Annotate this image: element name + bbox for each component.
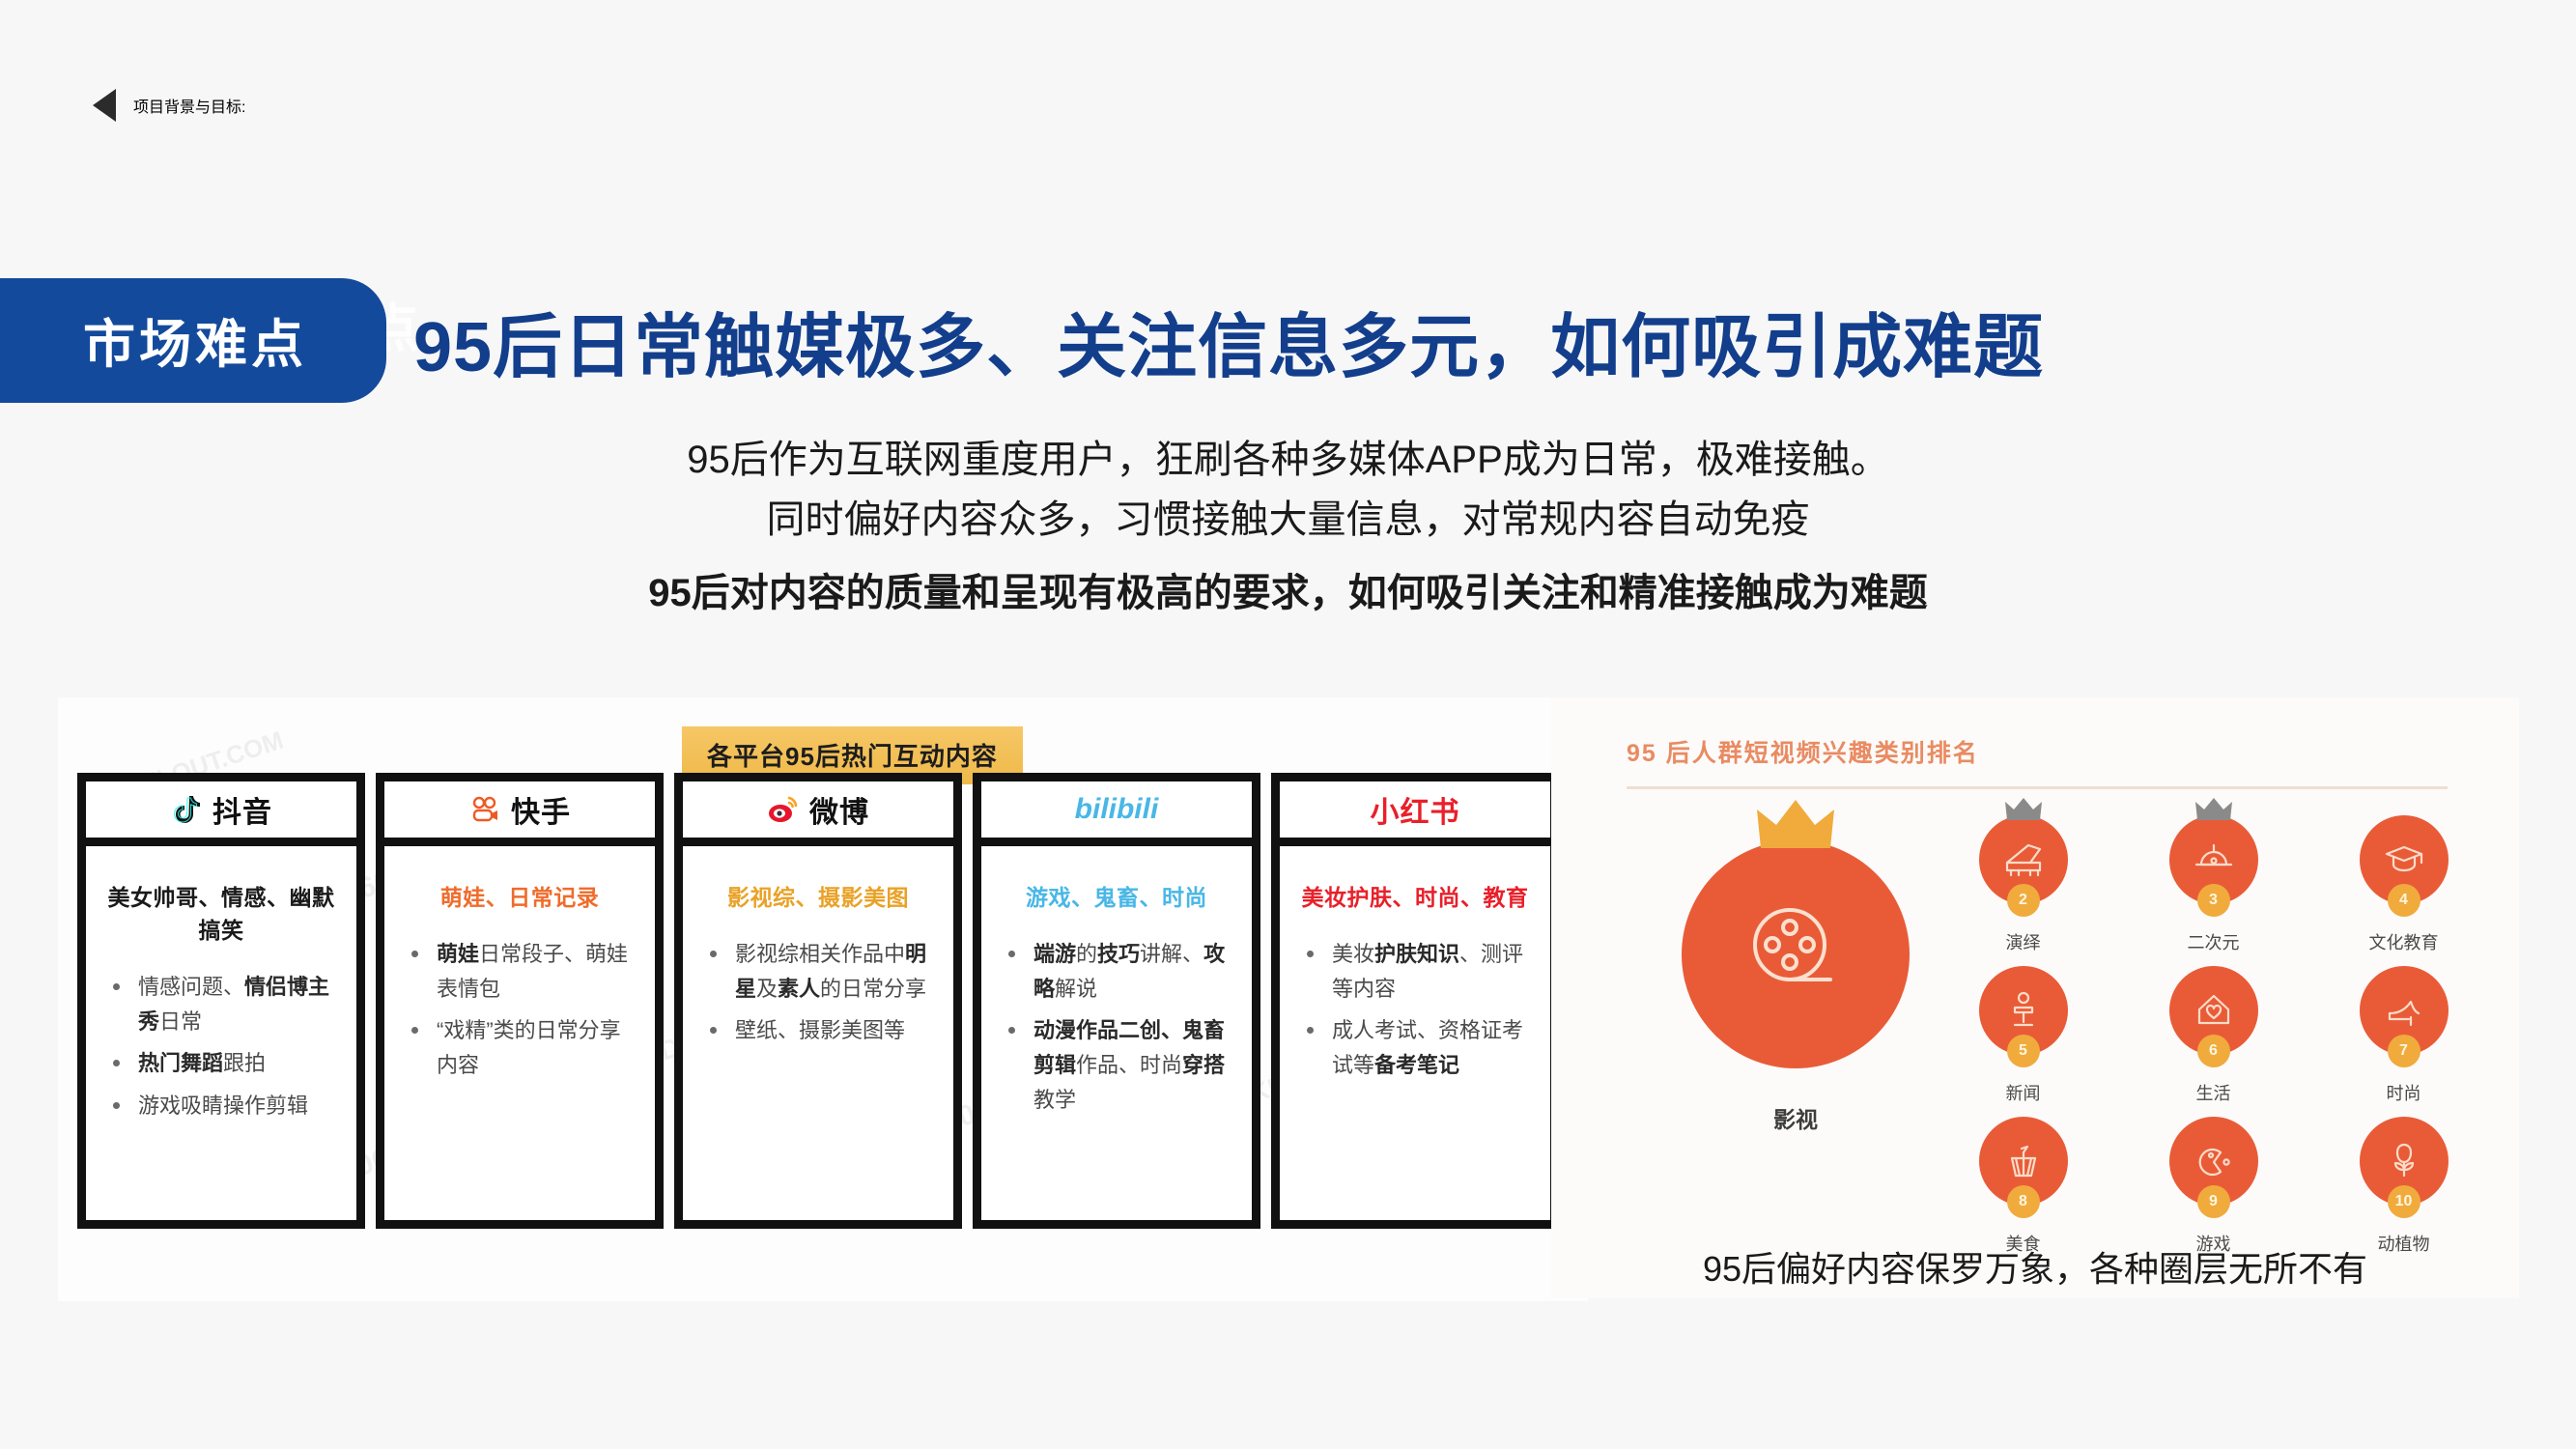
list-item: 成人考试、资格证考试等备考笔记	[1293, 1013, 1537, 1082]
platform-card-body: 萌娃、日常记录萌娃日常段子、萌娃表情包“戏精”类的日常分享内容	[376, 846, 664, 1229]
platform-brand-name: 微博	[809, 788, 869, 831]
paragraph-1: 95后作为互联网重度用户，狂刷各种多媒体APP成为日常，极难接触。	[0, 430, 2576, 490]
rank-circle: 2	[1979, 815, 2068, 904]
rank-label: 影视	[1665, 1101, 1926, 1134]
rank-label: 二次元	[2124, 929, 2303, 954]
kuaishou-camera-icon	[468, 793, 501, 826]
cupcake-icon	[1997, 1133, 2050, 1190]
rank-circle: 4	[2360, 815, 2449, 904]
rank-label: 演绎	[1934, 929, 2112, 954]
platform-card[interactable]: 小红书美妆护肤、时尚、教育美妆护肤知识、测评等内容成人考试、资格证考试等备考笔记	[1271, 773, 1559, 1229]
triangle-left-icon	[93, 89, 116, 122]
description-block: 95后作为互联网重度用户，狂刷各种多媒体APP成为日常，极难接触。 同时偏好内容…	[0, 430, 2576, 623]
rank-number-badge: 8	[2007, 1185, 2040, 1218]
piano-icon	[1997, 832, 2050, 889]
platform-card-bullets: 美妆护肤知识、测评等内容成人考试、资格证考试等备考笔记	[1293, 937, 1537, 1083]
platform-card[interactable]: 快手萌娃、日常记录萌娃日常段子、萌娃表情包“戏精”类的日常分享内容	[376, 773, 664, 1229]
platform-brand-name: bilibili	[1075, 793, 1159, 826]
platform-card-header: bilibili	[973, 773, 1260, 846]
rank-item-3[interactable]: 3二次元	[2124, 815, 2303, 954]
ranking-panel: 95 后人群短视频兴趣类别排名 影视	[1551, 697, 2519, 1298]
platform-card[interactable]: 抖音美女帅哥、情感、幽默搞笑情感问题、情侣博主秀日常热门舞蹈跟拍游戏吸睛操作剪辑	[77, 773, 365, 1229]
platform-card-bullets: 端游的技巧讲解、攻略解说动漫作品二创、鬼畜剪辑作品、时尚穿搭教学	[995, 937, 1238, 1117]
ranking-title: 95 后人群短视频兴趣类别排名	[1627, 734, 1979, 769]
rank-label: 文化教育	[2314, 929, 2493, 954]
home-heart-icon	[2188, 982, 2240, 1039]
crown-icon	[1755, 798, 1836, 857]
breadcrumb: 项目背景与目标:	[93, 89, 245, 122]
list-item: 热门舞蹈跟拍	[99, 1046, 343, 1081]
headline-title: 95后日常触媒极多、关注信息多元，如何吸引成难题	[413, 290, 2044, 391]
rank-item-4[interactable]: 4文化教育	[2314, 815, 2493, 954]
platform-brand-name: 快手	[511, 788, 571, 831]
rank-number-badge: 4	[2388, 884, 2420, 917]
rank-circle: 9	[2169, 1117, 2258, 1206]
platform-card-title: 萌娃、日常记录	[398, 879, 641, 912]
rank-item-5[interactable]: 5新闻	[1934, 966, 2112, 1105]
ranking-grid: 2演绎3二次元4文化教育5新闻6生活7时尚8美食9游戏10动植物	[1934, 815, 2493, 1256]
rank-label: 生活	[2124, 1080, 2303, 1105]
platform-cards-panel: TOPKLOUT.COMCBNData ID:360066TOPKLOUT.CO…	[58, 697, 1588, 1301]
platform-card-list: 抖音美女帅哥、情感、幽默搞笑情感问题、情侣博主秀日常热门舞蹈跟拍游戏吸睛操作剪辑…	[77, 773, 1559, 1229]
list-item: 影视综相关作品中明星及素人的日常分享	[696, 937, 940, 1006]
list-item: 情感问题、情侣博主秀日常	[99, 970, 343, 1038]
paragraph-3: 95后对内容的质量和呈现有极高的要求，如何吸引关注和精准接触成为难题	[0, 563, 2576, 623]
platform-card[interactable]: 微博影视综、摄影美图影视综相关作品中明星及素人的日常分享壁纸、摄影美图等	[674, 773, 962, 1229]
weibo-eye-icon	[767, 793, 800, 826]
anime-hat-icon	[2188, 832, 2240, 889]
rank-number-badge: 9	[2197, 1185, 2230, 1218]
rank-number-badge: 10	[2388, 1185, 2420, 1218]
list-item: “戏精”类的日常分享内容	[398, 1013, 641, 1082]
platform-brand-name: 小红书	[1371, 788, 1460, 831]
rank-item-2[interactable]: 2演绎	[1934, 815, 2112, 954]
rank-circle: 3	[2169, 815, 2258, 904]
rank-circle: 8	[1979, 1117, 2068, 1206]
rank-number-badge: 2	[2007, 884, 2040, 917]
platform-card[interactable]: bilibili游戏、鬼畜、时尚端游的技巧讲解、攻略解说动漫作品二创、鬼畜剪辑作…	[973, 773, 1260, 1229]
high-heel-icon	[2378, 982, 2430, 1039]
platform-card-bullets: 影视综相关作品中明星及素人的日常分享壁纸、摄影美图等	[696, 937, 940, 1048]
ranking-caption: 95后偏好内容保罗万象，各种圈层无所不有	[1551, 1241, 2519, 1292]
list-item: 端游的技巧讲解、攻略解说	[995, 937, 1238, 1006]
crown-icon	[2004, 797, 2043, 827]
platform-card-title: 游戏、鬼畜、时尚	[995, 879, 1238, 912]
page-title: 项目背景与目标:	[133, 94, 245, 117]
list-item: 壁纸、摄影美图等	[696, 1013, 940, 1048]
platform-card-body: 美女帅哥、情感、幽默搞笑情感问题、情侣博主秀日常热门舞蹈跟拍游戏吸睛操作剪辑	[77, 846, 365, 1229]
rank-circle: 6	[2169, 966, 2258, 1055]
rank-number-badge: 7	[2388, 1035, 2420, 1067]
crown-icon	[2194, 797, 2233, 827]
rank-circle: 10	[2360, 1117, 2449, 1206]
tulip-icon	[2378, 1133, 2430, 1190]
platform-card-header: 快手	[376, 773, 664, 846]
list-item: 游戏吸睛操作剪辑	[99, 1089, 343, 1123]
platform-card-title: 影视综、摄影美图	[696, 879, 940, 912]
platform-card-body: 美妆护肤、时尚、教育美妆护肤知识、测评等内容成人考试、资格证考试等备考笔记	[1271, 846, 1559, 1229]
rank-item-6[interactable]: 6生活	[2124, 966, 2303, 1105]
platform-card-body: 影视综、摄影美图影视综相关作品中明星及素人的日常分享壁纸、摄影美图等	[674, 846, 962, 1229]
rank-number-badge: 6	[2197, 1035, 2230, 1067]
rank-item-10[interactable]: 10动植物	[2314, 1117, 2493, 1256]
divider	[1627, 786, 2448, 789]
rank-label: 时尚	[2314, 1080, 2493, 1105]
platform-card-title: 美妆护肤、时尚、教育	[1293, 879, 1537, 912]
graduation-cap-icon	[2378, 832, 2430, 889]
platform-card-body: 游戏、鬼畜、时尚端游的技巧讲解、攻略解说动漫作品二创、鬼畜剪辑作品、时尚穿搭教学	[973, 846, 1260, 1229]
pacman-icon	[2188, 1133, 2240, 1190]
film-reel-icon	[1741, 898, 1850, 1011]
platform-card-title: 美女帅哥、情感、幽默搞笑	[99, 879, 343, 945]
rank-item-8[interactable]: 8美食	[1934, 1117, 2112, 1256]
platform-brand-name: 抖音	[212, 788, 272, 831]
list-item: 动漫作品二创、鬼畜剪辑作品、时尚穿搭教学	[995, 1013, 1238, 1117]
rank-item-1: 影视	[1665, 840, 1926, 1134]
rank-circle: 7	[2360, 966, 2449, 1055]
platform-card-header: 小红书	[1271, 773, 1559, 846]
status-badge: 市场难点	[0, 278, 386, 403]
rank-item-9[interactable]: 9游戏	[2124, 1117, 2303, 1256]
slide-root: 项目背景与目标: 市场难点 95后日常触媒极多、关注信息多元，如何吸引成难题 点…	[0, 0, 2576, 1449]
platform-card-header: 抖音	[77, 773, 365, 846]
list-item: 萌娃日常段子、萌娃表情包	[398, 937, 641, 1006]
rank-number-badge: 5	[2007, 1035, 2040, 1067]
rank-number-badge: 3	[2197, 884, 2230, 917]
news-anchor-icon	[1997, 982, 2050, 1039]
platform-card-bullets: 萌娃日常段子、萌娃表情包“戏精”类的日常分享内容	[398, 937, 641, 1083]
rank-circle	[1682, 840, 1910, 1068]
platform-card-header: 微博	[674, 773, 962, 846]
rank-circle: 5	[1979, 966, 2068, 1055]
list-item: 美妆护肤知识、测评等内容	[1293, 937, 1537, 1006]
paragraph-2: 同时偏好内容众多，习惯接触大量信息，对常规内容自动免疫	[0, 490, 2576, 550]
rank-label: 新闻	[1934, 1080, 2112, 1105]
rank-item-7[interactable]: 7时尚	[2314, 966, 2493, 1105]
douyin-note-icon	[170, 793, 203, 826]
platform-card-bullets: 情感问题、情侣博主秀日常热门舞蹈跟拍游戏吸睛操作剪辑	[99, 970, 343, 1123]
